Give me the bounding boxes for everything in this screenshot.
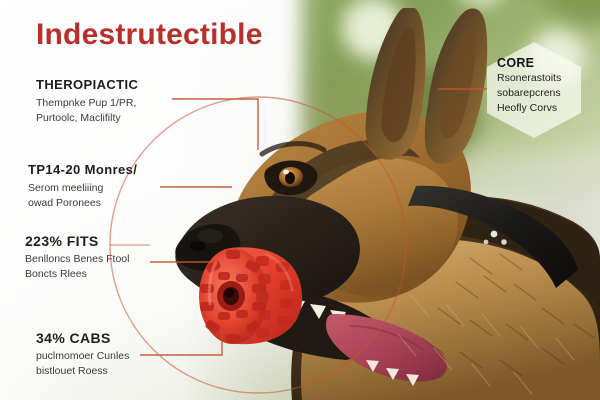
callout-line: Purtoolc, Maclifilty [36,111,216,126]
page-title: Indestrutectible [36,18,263,52]
callout-line: bistlouet Roess [36,364,216,379]
core-panel-heading: CORE [497,56,583,70]
core-panel-content: CORE Rsonerastoits sobarepcrens Heofly C… [497,56,583,116]
callout-tp14: TP14-20 Monres/ Serom meeliiing owad Por… [28,163,208,211]
callout-fits: 223% FITS Benlloncs Benes Ftool Boncts R… [25,233,205,283]
callout-line: Thempnke Pup 1/PR, [36,96,216,111]
core-panel-line: sobarepcrens [497,86,583,101]
callout-line: owad Poronees [28,196,208,211]
callout-theropiactic: THEROPIACTIC Thempnke Pup 1/PR, Purtoolc… [36,78,216,126]
callout-line: Boncts Rlees [25,267,205,282]
callout-heading: TP14-20 Monres/ [28,163,208,178]
callout-line: Benlloncs Benes Ftool [25,252,205,267]
callout-cabs: 34% CABS puclmomoer Cunles bistlouet Roe… [36,330,216,380]
core-panel-line: Heofly Corvs [497,101,583,116]
callout-heading: 34% CABS [36,330,216,346]
callout-line: puclmomoer Cunles [36,349,216,364]
callout-heading: THEROPIACTIC [36,78,216,93]
callout-line: Serom meeliiing [28,181,208,196]
infographic-poster: Indestrutectible THEROPIACTIC Thempnke P… [0,0,600,400]
core-panel-line: Rsonerastoits [497,71,583,86]
callout-heading: 223% FITS [25,233,205,249]
